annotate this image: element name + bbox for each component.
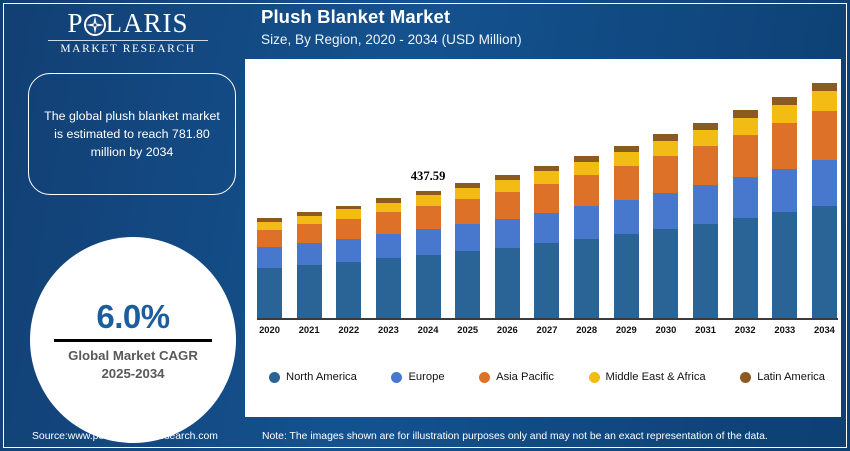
- bar-segment-europe: [574, 206, 599, 238]
- x-tick-2028: 2028: [574, 324, 599, 340]
- bar-column-2025: [455, 67, 480, 318]
- bar-segment-europe: [614, 200, 639, 234]
- bar-segment-asia-pacific: [614, 166, 639, 200]
- bar-segment-north-america: [693, 224, 718, 319]
- bar-segment-europe: [376, 234, 401, 258]
- bar-segment-asia-pacific: [336, 219, 361, 239]
- x-tick-2026: 2026: [495, 324, 520, 340]
- x-axis-tick-labels: 2020202120222023202420252026202720282029…: [257, 324, 837, 340]
- bar-segment-north-america: [455, 251, 480, 318]
- legend-item-north-america[interactable]: North America: [269, 371, 357, 383]
- logo-tagline: MARKET RESEARCH: [44, 43, 212, 55]
- bar-segment-north-america: [297, 265, 322, 318]
- bar-segment-middle-east-africa: [614, 152, 639, 166]
- bar-segment-asia-pacific: [376, 212, 401, 234]
- bar-column-2029: [614, 67, 639, 318]
- bar-segment-north-america: [376, 258, 401, 318]
- x-tick-2021: 2021: [297, 324, 322, 340]
- x-tick-2033: 2033: [772, 324, 797, 340]
- stacked-bar-chart: 437.59: [257, 67, 837, 318]
- bar-segment-latin-america: [733, 110, 758, 118]
- bar-segment-north-america: [614, 234, 639, 318]
- bar-segment-asia-pacific: [733, 135, 758, 177]
- bar-segment-north-america: [416, 255, 441, 318]
- bar-segment-middle-east-africa: [257, 222, 282, 230]
- x-tick-2025: 2025: [455, 324, 480, 340]
- bar-segment-europe: [495, 219, 520, 248]
- bar-segment-middle-east-africa: [693, 130, 718, 146]
- bar-segment-middle-east-africa: [772, 105, 797, 123]
- bar-segment-asia-pacific: [257, 230, 282, 247]
- compass-star-icon: [84, 12, 106, 34]
- cagr-divider: [54, 339, 212, 342]
- bar-segment-asia-pacific: [297, 224, 322, 243]
- bar-column-2026: [495, 67, 520, 318]
- bar-column-2027: [534, 67, 559, 318]
- bar-segment-middle-east-africa: [574, 162, 599, 176]
- logo-divider: [48, 40, 208, 41]
- infographic-root: P LARIS MARKET RESEARCH The global plush…: [0, 0, 850, 451]
- bar-segment-europe: [257, 247, 282, 267]
- bar-segment-europe: [416, 229, 441, 255]
- bar-segment-asia-pacific: [455, 199, 480, 224]
- bar-segment-asia-pacific: [693, 146, 718, 185]
- bar-segment-asia-pacific: [495, 192, 520, 219]
- logo-wordmark: P LARIS: [44, 8, 212, 38]
- x-tick-2034: 2034: [812, 324, 837, 340]
- bar-column-2024: 437.59: [416, 67, 441, 318]
- bar-segment-europe: [812, 160, 837, 206]
- bar-segment-north-america: [733, 218, 758, 318]
- bar-segment-middle-east-africa: [336, 209, 361, 218]
- bar-segment-north-america: [653, 229, 678, 318]
- bar-segment-north-america: [574, 239, 599, 318]
- x-tick-2030: 2030: [653, 324, 678, 340]
- x-tick-2029: 2029: [614, 324, 639, 340]
- bar-segment-middle-east-africa: [812, 91, 837, 111]
- bar-segment-north-america: [336, 262, 361, 318]
- legend-item-europe[interactable]: Europe: [391, 371, 444, 383]
- page-subtitle: Size, By Region, 2020 - 2034 (USD Millio…: [261, 32, 522, 47]
- bar-column-2031: [693, 67, 718, 318]
- legend-label: Middle East & Africa: [606, 371, 706, 383]
- bar-segment-north-america: [534, 243, 559, 318]
- legend-swatch-icon: [391, 372, 402, 383]
- polaris-logo: P LARIS MARKET RESEARCH: [44, 8, 212, 55]
- cagr-period: 2025-2034: [101, 366, 164, 381]
- x-tick-2027: 2027: [534, 324, 559, 340]
- note-text: Note: The images shown are for illustrat…: [262, 431, 768, 442]
- bar-segment-europe: [455, 224, 480, 251]
- bar-value-label-2024: 437.59: [411, 169, 446, 184]
- bar-segment-latin-america: [772, 97, 797, 105]
- bar-column-2021: [297, 67, 322, 318]
- bar-column-2022: [336, 67, 361, 318]
- x-tick-2020: 2020: [257, 324, 282, 340]
- legend-swatch-icon: [479, 372, 490, 383]
- bar-segment-latin-america: [812, 83, 837, 91]
- legend-item-middle-east-africa[interactable]: Middle East & Africa: [589, 371, 706, 383]
- bar-segment-middle-east-africa: [376, 203, 401, 213]
- legend-item-latin-america[interactable]: Latin America: [740, 371, 825, 383]
- x-axis-line: [257, 318, 838, 320]
- legend-swatch-icon: [740, 372, 751, 383]
- legend-swatch-icon: [269, 372, 280, 383]
- bar-column-2033: [772, 67, 797, 318]
- legend-label: North America: [286, 371, 357, 383]
- legend-item-asia-pacific[interactable]: Asia Pacific: [479, 371, 554, 383]
- chart-panel: 437.59 202020212022202320242025202620272…: [245, 59, 841, 417]
- bar-column-2034: [812, 67, 837, 318]
- source-text: Source:www.polarismarketresearch.com: [32, 431, 218, 442]
- bar-segment-asia-pacific: [653, 156, 678, 192]
- legend-label: Asia Pacific: [496, 371, 554, 383]
- legend-label: Europe: [408, 371, 444, 383]
- market-callout-box: The global plush blanket market is estim…: [28, 73, 236, 195]
- bar-segment-latin-america: [693, 123, 718, 130]
- bar-segment-europe: [772, 169, 797, 212]
- page-title: Plush Blanket Market: [261, 6, 450, 28]
- x-tick-2032: 2032: [733, 324, 758, 340]
- bar-column-2032: [733, 67, 758, 318]
- bar-column-2028: [574, 67, 599, 318]
- bar-column-2020: [257, 67, 282, 318]
- bar-segment-middle-east-africa: [416, 195, 441, 206]
- x-tick-2024: 2024: [416, 324, 441, 340]
- bar-segment-middle-east-africa: [297, 216, 322, 225]
- bar-segment-europe: [297, 243, 322, 265]
- bar-segment-middle-east-africa: [733, 118, 758, 135]
- bar-column-2023: [376, 67, 401, 318]
- chart-legend: North AmericaEuropeAsia PacificMiddle Ea…: [257, 371, 837, 383]
- bar-segment-europe: [653, 193, 678, 229]
- bar-segment-middle-east-africa: [653, 141, 678, 156]
- x-tick-2023: 2023: [376, 324, 401, 340]
- bar-segment-latin-america: [653, 134, 678, 141]
- market-callout-text: The global plush blanket market is estim…: [39, 107, 225, 161]
- bar-segment-north-america: [812, 206, 837, 319]
- bar-column-2030: [653, 67, 678, 318]
- bar-segment-asia-pacific: [812, 111, 837, 160]
- logo-letters-laris: LARIS: [106, 8, 189, 38]
- bar-segment-asia-pacific: [574, 175, 599, 206]
- cagr-label: Global Market CAGR: [68, 348, 198, 363]
- bar-segment-europe: [336, 239, 361, 262]
- bar-segment-north-america: [495, 248, 520, 319]
- cagr-circle: 6.0% Global Market CAGR 2025-2034: [30, 237, 236, 443]
- legend-label: Latin America: [757, 371, 825, 383]
- bar-segment-europe: [693, 185, 718, 223]
- bar-segment-asia-pacific: [416, 206, 441, 229]
- bar-segment-north-america: [257, 268, 282, 318]
- x-tick-2022: 2022: [336, 324, 361, 340]
- bar-segment-europe: [534, 213, 559, 244]
- legend-swatch-icon: [589, 372, 600, 383]
- bar-segment-middle-east-africa: [495, 180, 520, 192]
- logo-letter-p: P: [67, 8, 83, 38]
- x-tick-2031: 2031: [693, 324, 718, 340]
- bar-segment-middle-east-africa: [534, 171, 559, 184]
- bar-segment-north-america: [772, 212, 797, 318]
- bar-segment-asia-pacific: [772, 123, 797, 168]
- bar-segment-europe: [733, 177, 758, 218]
- cagr-value: 6.0%: [96, 300, 169, 334]
- bar-segment-middle-east-africa: [455, 188, 480, 199]
- bar-segment-asia-pacific: [534, 184, 559, 213]
